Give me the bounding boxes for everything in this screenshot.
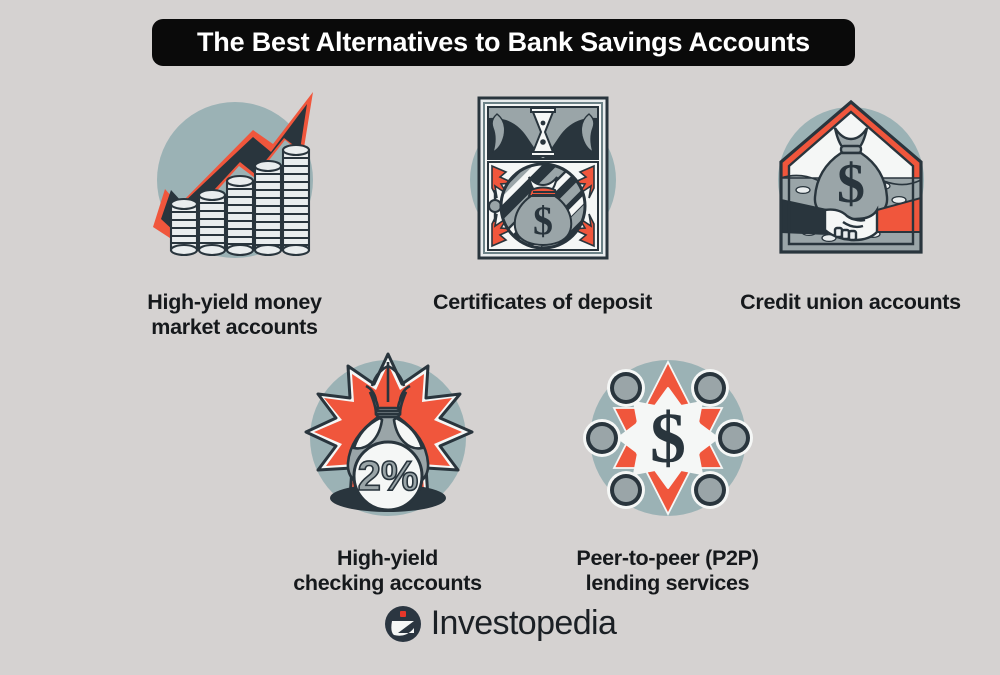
brand-name: Investopedia <box>431 604 617 643</box>
investopedia-logo-icon <box>384 605 422 643</box>
infographic-canvas: The Best Alternatives to Bank Savings Ac… <box>0 0 1000 675</box>
svg-text:$: $ <box>533 198 553 243</box>
percent-badge-value: 2% <box>357 452 418 499</box>
item-label: High-yield checking accounts <box>293 546 481 597</box>
item-card-high-yield-checking: 2% High-yield checking accounts <box>245 340 530 597</box>
item-card-certificates-of-deposit: $ Certificates of deposit <box>400 82 685 315</box>
coin-stacks-growth-arrow-icon <box>135 82 335 282</box>
item-card-peer-to-peer-lending: $ <box>525 340 810 597</box>
page-title-bar: The Best Alternatives to Bank Savings Ac… <box>152 19 855 66</box>
item-label: Peer-to-peer (P2P) lending services <box>576 546 758 597</box>
svg-text:$: $ <box>650 398 686 478</box>
brand-footer: Investopedia <box>0 604 1000 643</box>
moneybag-percent-burst-icon: 2% <box>288 340 488 540</box>
item-card-credit-union-accounts: $ <box>708 82 993 315</box>
certificate-vault-moneybag-icon: $ <box>443 82 643 282</box>
item-card-high-yield-money-market: High-yield money market accounts <box>92 82 377 341</box>
p2p-network-dollar-icon: $ <box>568 340 768 540</box>
item-label: High-yield money market accounts <box>147 290 321 341</box>
house-handshake-moneybag-icon: $ <box>751 82 951 282</box>
item-label: Certificates of deposit <box>433 290 652 315</box>
item-label: Credit union accounts <box>740 290 961 315</box>
svg-text:$: $ <box>837 153 865 215</box>
page-title: The Best Alternatives to Bank Savings Ac… <box>197 27 810 58</box>
